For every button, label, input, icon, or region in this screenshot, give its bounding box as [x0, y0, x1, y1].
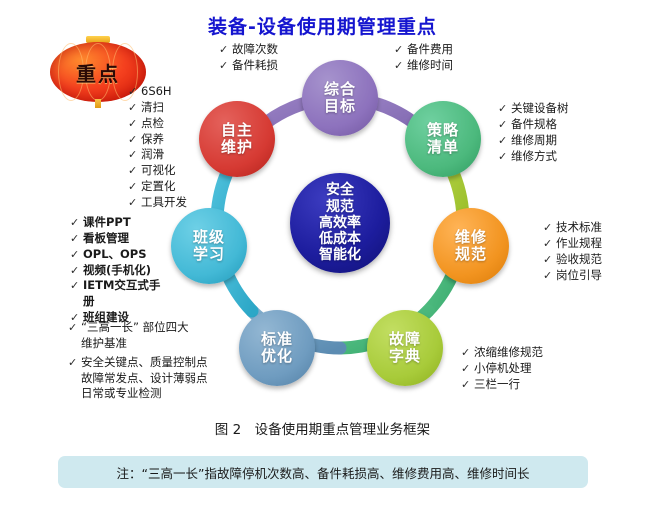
node-label-line: 目标: [324, 98, 356, 115]
list-item-label: 可视化: [141, 163, 176, 179]
footer-note: 注：“三高一长”指故障停机次数高、备件耗损高、维修费用高、维修时间长: [58, 456, 588, 488]
figure-caption: 图 2 设备使用期重点管理业务框架: [0, 418, 645, 438]
list-item-label: 润滑: [141, 147, 164, 163]
list-item-label: 课件PPT: [83, 215, 131, 231]
checklist-standard-optimize: ✓ “三高一长” 部位四大 维护基准 ✓ 安全关键点、质量控制点 故障常发点、设…: [68, 320, 208, 402]
list-item: ✓ OPL、OPS: [70, 247, 160, 263]
list-item: ✓ 备件耗损: [219, 58, 278, 74]
check-icon: ✓: [498, 133, 511, 148]
list-item-label: “三高一长” 部位四大 维护基准: [81, 320, 189, 352]
list-item-label: 定置化: [141, 179, 176, 195]
check-icon: ✓: [498, 101, 511, 116]
checklist-strategy-list: ✓ 关键设备树 ✓ 备件规格 ✓ 维修周期 ✓ 维修方式: [498, 101, 569, 164]
list-item-label: 备件耗损: [232, 58, 278, 74]
node-autonomous-maintenance[interactable]: 自主 维护: [199, 101, 275, 177]
list-item-label: 小停机处理: [474, 361, 532, 377]
center-label-line: 安全: [319, 182, 361, 198]
list-item-label: 故障次数: [232, 42, 278, 58]
list-item-label: 保养: [141, 132, 164, 148]
check-icon: ✓: [70, 247, 83, 262]
footer-note-text: 注：“三高一长”指故障停机次数高、备件耗损高、维修费用高、维修时间长: [117, 463, 530, 482]
lantern-label: 重点: [50, 58, 146, 87]
check-icon: ✓: [68, 355, 81, 370]
list-item: ✓ 关键设备树: [498, 101, 569, 117]
list-item-label: 浓缩维修规范: [474, 345, 543, 361]
node-label-line: 优化: [261, 348, 293, 365]
list-item: ✓ 课件PPT: [70, 215, 160, 231]
node-label-line: 故障: [389, 331, 421, 348]
check-icon: ✓: [128, 116, 141, 131]
node-label-line: 字典: [389, 348, 421, 365]
check-icon: ✓: [128, 163, 141, 178]
list-item-label: 安全关键点、质量控制点 故障常发点、设计薄弱点 日常或专业检测: [81, 355, 208, 403]
list-item-label: 维修周期: [511, 133, 557, 149]
list-item: ✓ 安全关键点、质量控制点 故障常发点、设计薄弱点 日常或专业检测: [68, 355, 208, 403]
check-icon: ✓: [498, 117, 511, 132]
node-maintenance-spec[interactable]: 维修 规范: [433, 208, 509, 284]
list-item-label: 6S6H: [141, 84, 172, 100]
node-fault-dictionary[interactable]: 故障 字典: [367, 310, 443, 386]
node-label-line: 规范: [455, 246, 487, 263]
check-icon: ✓: [128, 132, 141, 147]
list-item-label: 清扫: [141, 100, 164, 116]
list-item: ✓ 维修方式: [498, 149, 569, 165]
list-item-label: 视频(手机化): [83, 263, 151, 279]
node-label-line: 维修: [455, 229, 487, 246]
node-class-learning[interactable]: 班级 学习: [171, 208, 247, 284]
list-item-label: 岗位引导: [556, 268, 602, 284]
node-label-line: 学习: [193, 246, 225, 263]
list-item: ✓ 作业规程: [543, 236, 602, 252]
list-item: ✓ “三高一长” 部位四大 维护基准: [68, 320, 208, 352]
check-icon: ✓: [461, 361, 474, 376]
node-label-line: 自主: [221, 122, 253, 139]
checklist-top-left: ✓ 故障次数 ✓ 备件耗损: [219, 42, 278, 74]
node-comprehensive-goal[interactable]: 综合 目标: [302, 60, 378, 136]
list-item-label: IETM交互式手 册: [83, 278, 160, 310]
center-label-line: 低成本: [319, 231, 361, 247]
list-item-label: 工具开发: [141, 195, 187, 211]
check-icon: ✓: [219, 42, 232, 57]
check-icon: ✓: [394, 58, 407, 73]
list-item: ✓ 技术标准: [543, 220, 602, 236]
checklist-fault-dictionary: ✓ 浓缩维修规范 ✓ 小停机处理 ✓ 三栏一行: [461, 345, 543, 393]
list-item: ✓ 浓缩维修规范: [461, 345, 543, 361]
check-icon: ✓: [498, 149, 511, 164]
list-item: ✓ 维修周期: [498, 133, 569, 149]
checklist-class-learning: ✓ 课件PPT ✓ 看板管理 ✓ OPL、OPS ✓ 视频(手机化) ✓ IET…: [70, 215, 160, 326]
list-item-label: 作业规程: [556, 236, 602, 252]
list-item: ✓ 看板管理: [70, 231, 160, 247]
list-item: ✓ 维修时间: [394, 58, 453, 74]
list-item-label: 技术标准: [556, 220, 602, 236]
check-icon: ✓: [394, 42, 407, 57]
checklist-top-right: ✓ 备件费用 ✓ 维修时间: [394, 42, 453, 74]
list-item-label: 维修方式: [511, 149, 557, 165]
center-label-line: 规范: [319, 199, 361, 215]
list-item: ✓ 三栏一行: [461, 377, 543, 393]
list-item: ✓ 备件费用: [394, 42, 453, 58]
check-icon: ✓: [543, 268, 556, 283]
page-root: 装备-设备使用期管理重点 重点: [0, 0, 645, 505]
node-center-core[interactable]: 安全 规范 高效率 低成本 智能化: [290, 173, 390, 273]
check-icon: ✓: [543, 236, 556, 251]
lantern-tassel-icon: [95, 99, 101, 108]
node-standard-optimize[interactable]: 标准 优化: [239, 310, 315, 386]
list-item-label: 点检: [141, 116, 164, 132]
list-item-label: 三栏一行: [474, 377, 520, 393]
check-icon: ✓: [68, 320, 81, 335]
check-icon: ✓: [461, 377, 474, 392]
list-item-label: 看板管理: [83, 231, 129, 247]
list-item-label: 验收规范: [556, 252, 602, 268]
check-icon: ✓: [128, 84, 141, 99]
list-item: ✓ 岗位引导: [543, 268, 602, 284]
list-item: ✓ 点检: [128, 116, 187, 132]
node-label-line: 标准: [261, 331, 293, 348]
node-label-line: 综合: [324, 81, 356, 98]
check-icon: ✓: [543, 220, 556, 235]
node-strategy-list[interactable]: 策略 清单: [405, 101, 481, 177]
list-item: ✓ 小停机处理: [461, 361, 543, 377]
list-item: ✓ 视频(手机化): [70, 263, 160, 279]
list-item: ✓ IETM交互式手 册: [70, 278, 160, 310]
list-item: ✓ 验收规范: [543, 252, 602, 268]
page-title: 装备-设备使用期管理重点: [0, 12, 645, 39]
list-item: ✓ 保养: [128, 132, 187, 148]
checklist-maintenance-spec: ✓ 技术标准 ✓ 作业规程 ✓ 验收规范 ✓ 岗位引导: [543, 220, 602, 283]
check-icon: ✓: [128, 195, 141, 210]
list-item-label: OPL、OPS: [83, 247, 147, 263]
node-label-line: 班级: [193, 229, 225, 246]
check-icon: ✓: [461, 345, 474, 360]
checklist-autonomous-maintenance: ✓ 6S6H ✓ 清扫 ✓ 点检 ✓ 保养 ✓ 润滑 ✓ 可视化 ✓ 定置化 ✓: [128, 84, 187, 211]
check-icon: ✓: [70, 215, 83, 230]
list-item: ✓ 故障次数: [219, 42, 278, 58]
check-icon: ✓: [70, 231, 83, 246]
check-icon: ✓: [128, 147, 141, 162]
node-label-line: 清单: [427, 139, 459, 156]
center-label-line: 智能化: [319, 247, 361, 263]
list-item: ✓ 清扫: [128, 100, 187, 116]
list-item-label: 维修时间: [407, 58, 453, 74]
list-item: ✓ 6S6H: [128, 84, 187, 100]
list-item: ✓ 定置化: [128, 179, 187, 195]
check-icon: ✓: [543, 252, 556, 267]
check-icon: ✓: [70, 263, 83, 278]
check-icon: ✓: [128, 179, 141, 194]
list-item: ✓ 可视化: [128, 163, 187, 179]
check-icon: ✓: [219, 58, 232, 73]
center-label-line: 高效率: [319, 215, 361, 231]
check-icon: ✓: [70, 278, 83, 293]
check-icon: ✓: [128, 100, 141, 115]
list-item: ✓ 润滑: [128, 147, 187, 163]
list-item-label: 备件规格: [511, 117, 557, 133]
list-item: ✓ 工具开发: [128, 195, 187, 211]
node-label-line: 策略: [427, 122, 459, 139]
list-item-label: 备件费用: [407, 42, 453, 58]
list-item: ✓ 备件规格: [498, 117, 569, 133]
node-label-line: 维护: [221, 139, 253, 156]
list-item-label: 关键设备树: [511, 101, 569, 117]
